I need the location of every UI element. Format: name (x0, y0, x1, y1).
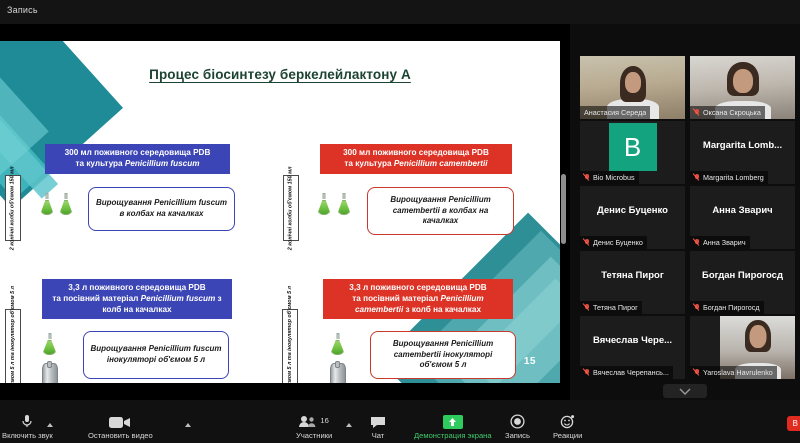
flask-icon-a2 (59, 193, 73, 215)
slide-title: Процес біосинтезу беркелейлактону А (0, 67, 560, 82)
block-note-bottom-right: Вирощування Penicillium camembertii інок… (370, 331, 516, 379)
avatar-face (625, 72, 641, 93)
participant-name-6: Тетяна Пирог (593, 303, 638, 312)
record-label: Запись (505, 431, 530, 440)
chat-label: Чат (372, 431, 385, 440)
meeting-toolbar: Включить звук Остановить видео (0, 400, 800, 443)
record-icon (510, 412, 525, 429)
participant-name-4: Денис Буценко (593, 238, 643, 247)
participant-namebar-6: Тетяна Пирог (580, 301, 642, 314)
participant-namebar-8: Вячеслав Черепансь... (580, 366, 673, 379)
audio-label: Включить звук (2, 431, 53, 440)
participant-name-3: Margarita Lomberg (703, 173, 764, 182)
participant-namebar-1: Оксана Скроцька (690, 106, 765, 119)
participant-tile-1[interactable]: Оксана Скроцька (690, 56, 795, 119)
shared-screen-area[interactable]: Процес біосинтезу беркелейлактону А 2 ко… (0, 24, 570, 400)
participants-options-caret[interactable] (346, 423, 352, 427)
chat-button[interactable]: Чат (370, 412, 386, 440)
avatar-face (733, 69, 753, 93)
participant-name-0: Анастасия Середа (584, 108, 646, 117)
mic-off-icon (694, 109, 700, 117)
participant-namebar-5: Анна Зварич (690, 236, 750, 249)
chevron-up-icon (185, 423, 191, 427)
mic-off-icon (694, 239, 700, 247)
block-header-bottom-left: 3,3 л поживного середовища PDB та посівн… (42, 279, 232, 319)
reactions-button[interactable]: Реакции (553, 412, 582, 440)
share-screen-icon (443, 412, 463, 429)
participant-namebar-9: Yaroslava Havrulenko (690, 366, 777, 379)
flask-icon-b1 (317, 193, 331, 215)
chat-icon (370, 412, 386, 429)
mic-off-icon (694, 174, 700, 182)
mic-off-icon (584, 369, 590, 377)
chevron-up-icon (346, 423, 352, 427)
mic-off-icon (584, 304, 590, 312)
end-meeting-button[interactable]: В (787, 416, 800, 431)
participant-namebar-2: Bio Microbus (580, 171, 639, 184)
block-note-bottom-left: Вирощування Penicillium fuscum інокулято… (83, 331, 229, 379)
participant-name-5: Анна Зварич (703, 238, 746, 247)
participant-tile-7[interactable]: Богдан Пирогосд Богдан Пирогосд (690, 251, 795, 314)
chevron-up-icon (47, 423, 53, 427)
flask-icon-c1 (42, 333, 57, 355)
bioreactor-icon-c (42, 363, 58, 383)
audio-button[interactable]: Включить звук (2, 412, 53, 440)
participant-namebar-3: Margarita Lomberg (690, 171, 768, 184)
record-button[interactable]: Запись (505, 412, 530, 440)
participant-tile-2[interactable]: B Bio Microbus (580, 121, 685, 184)
share-scrollbar[interactable] (561, 174, 566, 244)
participant-name-2: Bio Microbus (593, 173, 635, 182)
zoom-meeting-window: Запись Процес біосинтезу беркелейлактону… (0, 0, 800, 443)
share-screen-button[interactable]: Демонстрация экрана (414, 412, 492, 440)
bioreactor-icon-d (330, 363, 346, 383)
participant-tile-6[interactable]: Тетяна Пирог Тетяна Пирог (580, 251, 685, 314)
side-label-top-left: 2 конічні колби об'ємом 150 мл (5, 175, 21, 241)
side-label-bottom-right: Колба об'ємом 5 л та інокулятор об'ємом … (282, 309, 298, 383)
participant-namebar-0: Анастасия Середа (580, 106, 650, 119)
reactions-icon (560, 412, 575, 429)
participants-icon: 16 (299, 412, 328, 429)
participant-name-1: Оксана Скроцька (703, 108, 761, 117)
recording-label: Запись (7, 5, 38, 15)
side-label-bottom-left: Колба об'ємом 5 л та інокулятор об'ємом … (5, 309, 21, 383)
participant-name-8: Вячеслав Черепансь... (593, 368, 669, 377)
slide-number: 15 (524, 356, 536, 367)
participant-tile-9[interactable]: Yaroslava Havrulenko (690, 316, 795, 379)
video-label: Остановить видео (88, 431, 153, 440)
mic-off-icon (584, 239, 590, 247)
flask-icon-d1 (330, 333, 345, 355)
video-options-caret[interactable] (185, 423, 191, 427)
scroll-down-button[interactable] (663, 384, 707, 398)
participants-button[interactable]: 16 Участники (296, 412, 332, 440)
participants-count: 16 (320, 416, 328, 425)
mic-off-icon (584, 174, 590, 182)
participant-tile-5[interactable]: Анна Зварич Анна Зварич (690, 186, 795, 249)
participant-tile-3[interactable]: Margarita Lomb... Margarita Lomberg (690, 121, 795, 184)
audio-options-caret[interactable] (47, 423, 53, 427)
video-button[interactable]: Остановить видео (88, 412, 153, 440)
participant-tile-4[interactable]: Денис Буценко Денис Буценко (580, 186, 685, 249)
chevron-down-icon (679, 388, 691, 395)
participant-namebar-4: Денис Буценко (580, 236, 647, 249)
microphone-icon (19, 412, 35, 429)
presentation-slide: Процес біосинтезу беркелейлактону А 2 ко… (0, 41, 560, 383)
avatar-initial: B (609, 123, 657, 171)
mic-off-icon (694, 369, 700, 377)
flask-icon-a1 (40, 193, 54, 215)
participant-name-9: Yaroslava Havrulenko (703, 368, 773, 377)
flask-icon-b2 (337, 193, 351, 215)
block-note-top-right: Вирощування Penicillium camembertii в ко… (367, 187, 514, 235)
camera-icon (109, 412, 131, 429)
share-screen-label: Демонстрация экрана (414, 431, 492, 440)
block-header-top-left: 300 мл поживного середовища PDB та культ… (45, 144, 230, 174)
participants-label: Участники (296, 431, 332, 440)
participant-name-7: Богдан Пирогосд (703, 303, 760, 312)
side-label-top-right: 2 конічні колби об'ємом 150 мл (283, 175, 299, 241)
avatar-face (749, 325, 766, 348)
participant-tile-8[interactable]: Вячеслав Чере... Вячеслав Черепансь... (580, 316, 685, 379)
mic-off-icon (694, 304, 700, 312)
reactions-label: Реакции (553, 431, 582, 440)
participants-panel: Анастасия Середа Оксана Скроцька B Bio M… (570, 24, 800, 400)
participant-tile-0[interactable]: Анастасия Середа (580, 56, 685, 119)
recording-indicator-bar: Запись (0, 0, 800, 24)
block-header-bottom-right: 3,3 л поживного середовища PDB та посівн… (323, 279, 513, 319)
participant-namebar-7: Богдан Пирогосд (690, 301, 764, 314)
block-note-top-left: Вирощування Penicillium fuscum в колбах … (88, 187, 235, 231)
block-header-top-right: 300 мл поживного середовища PDB та культ… (320, 144, 512, 174)
